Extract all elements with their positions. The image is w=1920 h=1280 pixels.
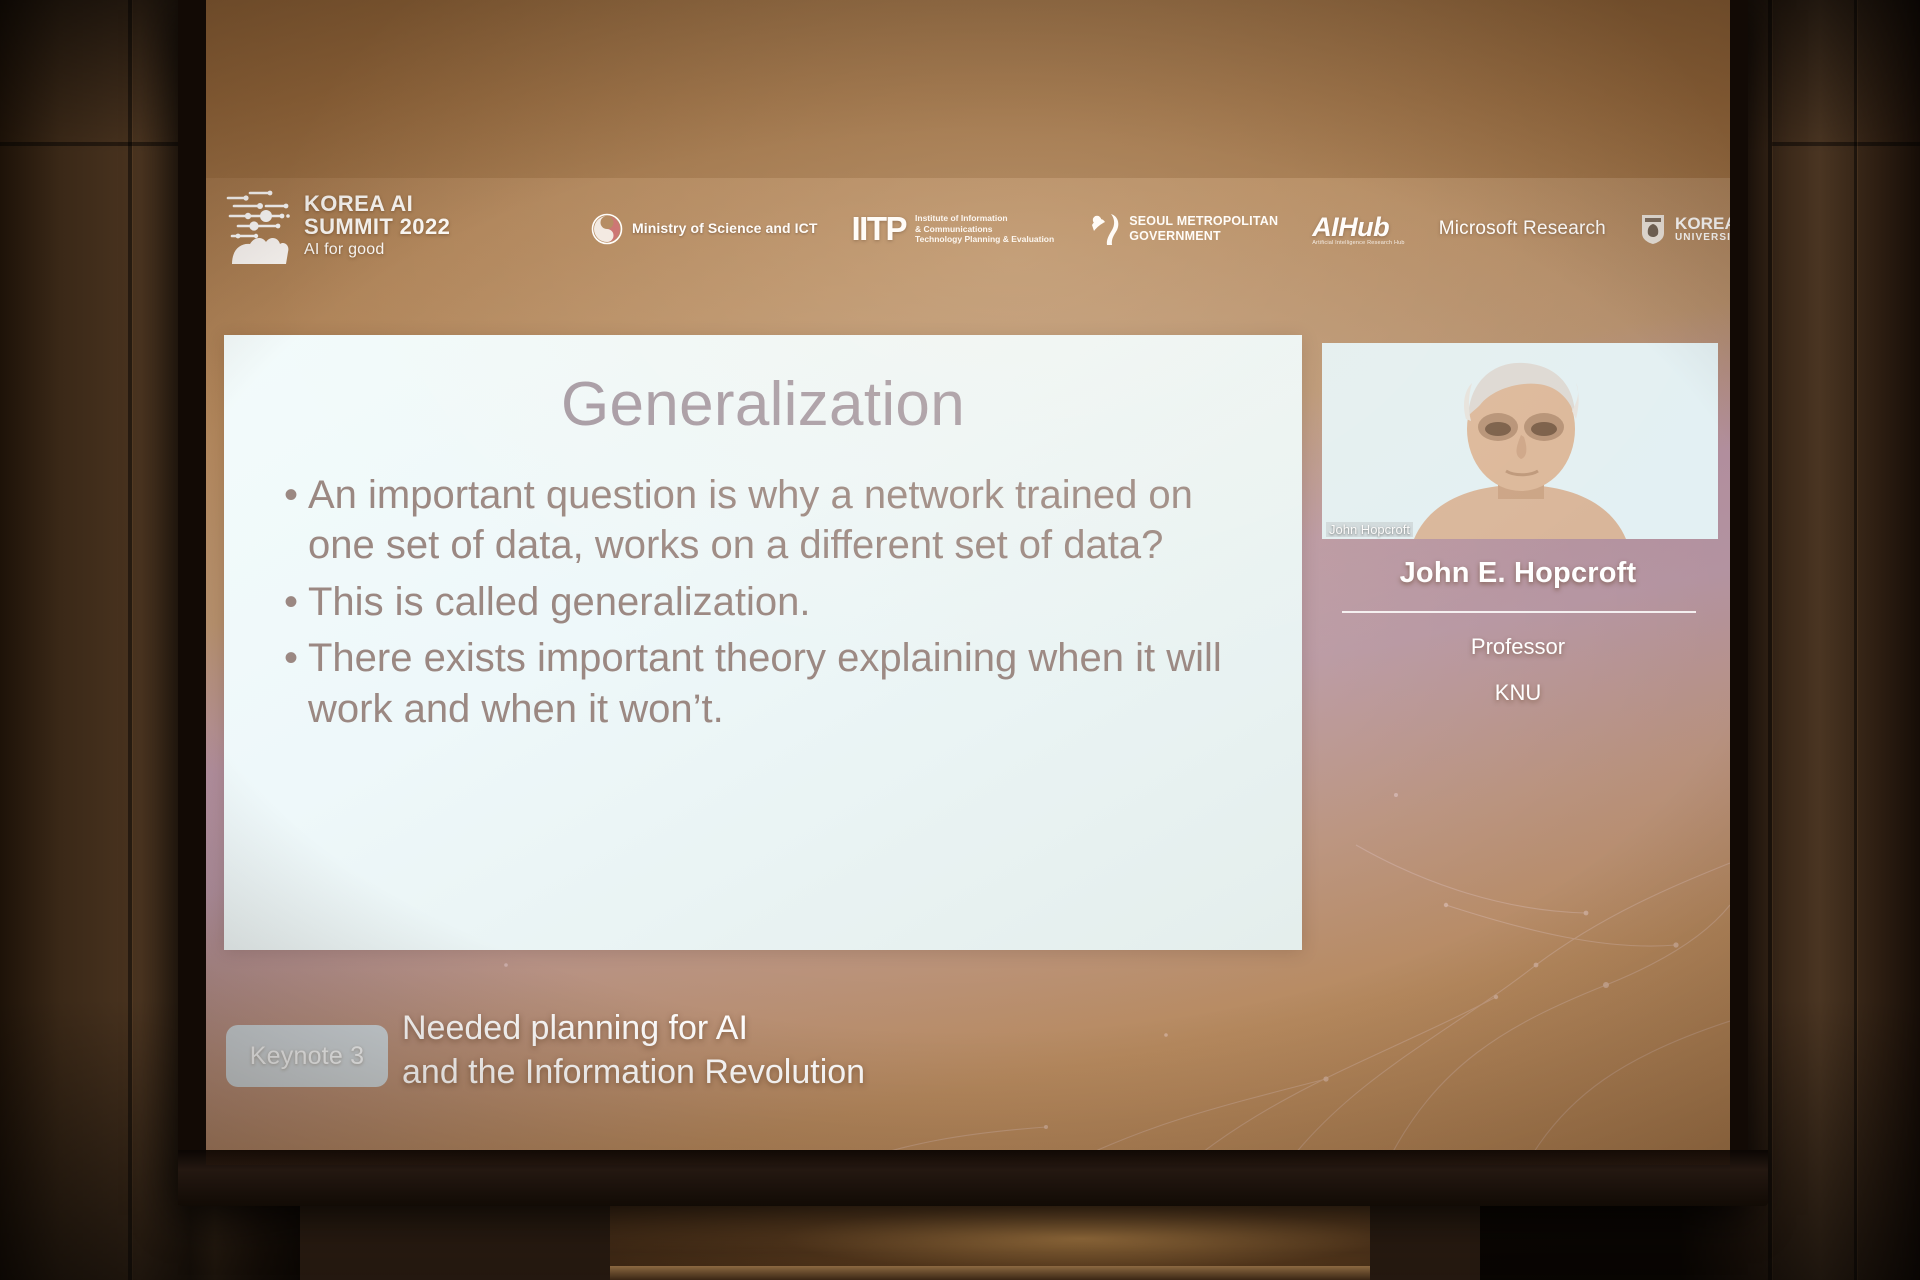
- sponsor-korea-university: KOREA UNIVERSITY: [1640, 213, 1730, 245]
- speaker-video-name-label: John Hopcroft: [1326, 522, 1413, 537]
- sponsor-seoul-metropolitan-government: SEOUL METROPOLITAN GOVERNMENT: [1088, 211, 1278, 247]
- bullet-item: • There exists important theory explaini…: [282, 633, 1244, 734]
- wall-panel-seam: [1772, 142, 1920, 146]
- wall-panel-seam: [1768, 0, 1772, 1280]
- wall-panel-seam: [128, 0, 132, 1280]
- slide-bottom-banner: Keynote 3 Needed planning for AI and the…: [206, 975, 1730, 1165]
- iitp-sub-line1: Institute of Information: [915, 213, 1054, 223]
- aihub-sub: Artificial Intelligence Research Hub: [1312, 240, 1405, 246]
- bullet-text: There exists important theory explaining…: [308, 636, 1222, 730]
- iitp-sub-line2: & Communications: [915, 224, 1054, 234]
- projected-slide: KOREA AI SUMMIT 2022 AI for good Ministr…: [206, 0, 1730, 1165]
- summit-title-line1: KOREA AI: [304, 193, 450, 215]
- keynote-badge: Keynote 3: [226, 1025, 388, 1087]
- bullet-text: An important question is why a network t…: [308, 473, 1193, 567]
- korea-university-crest-icon: [1640, 213, 1666, 245]
- iitp-sub-line3: Technology Planning & Evaluation: [915, 234, 1054, 244]
- speaker-name: John E. Hopcroft: [1310, 557, 1726, 590]
- keynote-title-line1: Needed planning for AI: [402, 1007, 865, 1051]
- summit-tagline: AI for good: [304, 242, 450, 258]
- korea-university-sub: UNIVERSITY: [1675, 232, 1730, 243]
- speaker-webcam-portrait: [1322, 343, 1718, 539]
- korea-ai-summit-wordmark: KOREA AI SUMMIT 2022 AI for good: [304, 193, 450, 258]
- sponsor-microsoft-research: Microsoft Research: [1439, 218, 1606, 240]
- speaker-organization: KNU: [1310, 680, 1726, 706]
- keynote-title: Needed planning for AI and the Informati…: [402, 1007, 865, 1094]
- bullet-marker-icon: •: [284, 577, 298, 627]
- seoul-label-line1: SEOUL METROPOLITAN: [1129, 214, 1278, 229]
- slide-title: Generalization: [224, 369, 1302, 440]
- seoul-human-figure-icon: [1088, 211, 1120, 247]
- slide-upper-blank-area: [206, 0, 1730, 178]
- speaker-role: Professor: [1310, 634, 1726, 660]
- bullet-marker-icon: •: [284, 470, 298, 520]
- slide-content-card: Generalization • An important question i…: [224, 335, 1302, 950]
- keynote-title-line2: and the Information Revolution: [402, 1051, 865, 1095]
- wall-panel-seam: [0, 142, 180, 146]
- bullet-item: • This is called generalization.: [282, 577, 1244, 627]
- aihub-wordmark: AIHub: [1312, 212, 1405, 242]
- wall-panel-seam: [1854, 0, 1857, 1280]
- slide-bullet-list: • An important question is why a network…: [282, 470, 1244, 734]
- korea-ai-summit-logo: KOREA AI SUMMIT 2022 AI for good: [224, 188, 450, 264]
- taegeuk-swirl-icon: [591, 213, 623, 245]
- seoul-label-line2: GOVERNMENT: [1129, 229, 1278, 244]
- sponsor-ministry-of-science-and-ict: Ministry of Science and ICT: [591, 213, 818, 245]
- slide-header-logo-strip: KOREA AI SUMMIT 2022 AI for good Ministr…: [206, 180, 1730, 315]
- speaker-divider: [1342, 611, 1696, 613]
- korea-university-name: KOREA: [1675, 215, 1730, 232]
- microsoft-research-wordmark: Microsoft Research: [1439, 218, 1606, 240]
- sponsor-label: Ministry of Science and ICT: [632, 221, 818, 237]
- bullet-marker-icon: •: [284, 633, 298, 683]
- sponsor-ai-hub: AIHub Artificial Intelligence Research H…: [1312, 212, 1405, 245]
- sponsor-logo-row: Ministry of Science and ICT IITP Institu…: [591, 198, 1720, 260]
- iitp-wordmark: IITP: [852, 210, 907, 248]
- sponsor-iitp: IITP Institute of Information & Communic…: [852, 210, 1055, 248]
- bullet-text: This is called generalization.: [308, 580, 810, 624]
- korea-ai-summit-circuit-hand-icon: [224, 188, 292, 264]
- speaker-video-feed: John Hopcroft: [1322, 343, 1718, 539]
- bullet-item: • An important question is why a network…: [282, 470, 1244, 571]
- summit-title-line2: SUMMIT 2022: [304, 216, 450, 238]
- speaker-panel: John Hopcroft John E. Hopcroft Professor…: [1310, 335, 1730, 950]
